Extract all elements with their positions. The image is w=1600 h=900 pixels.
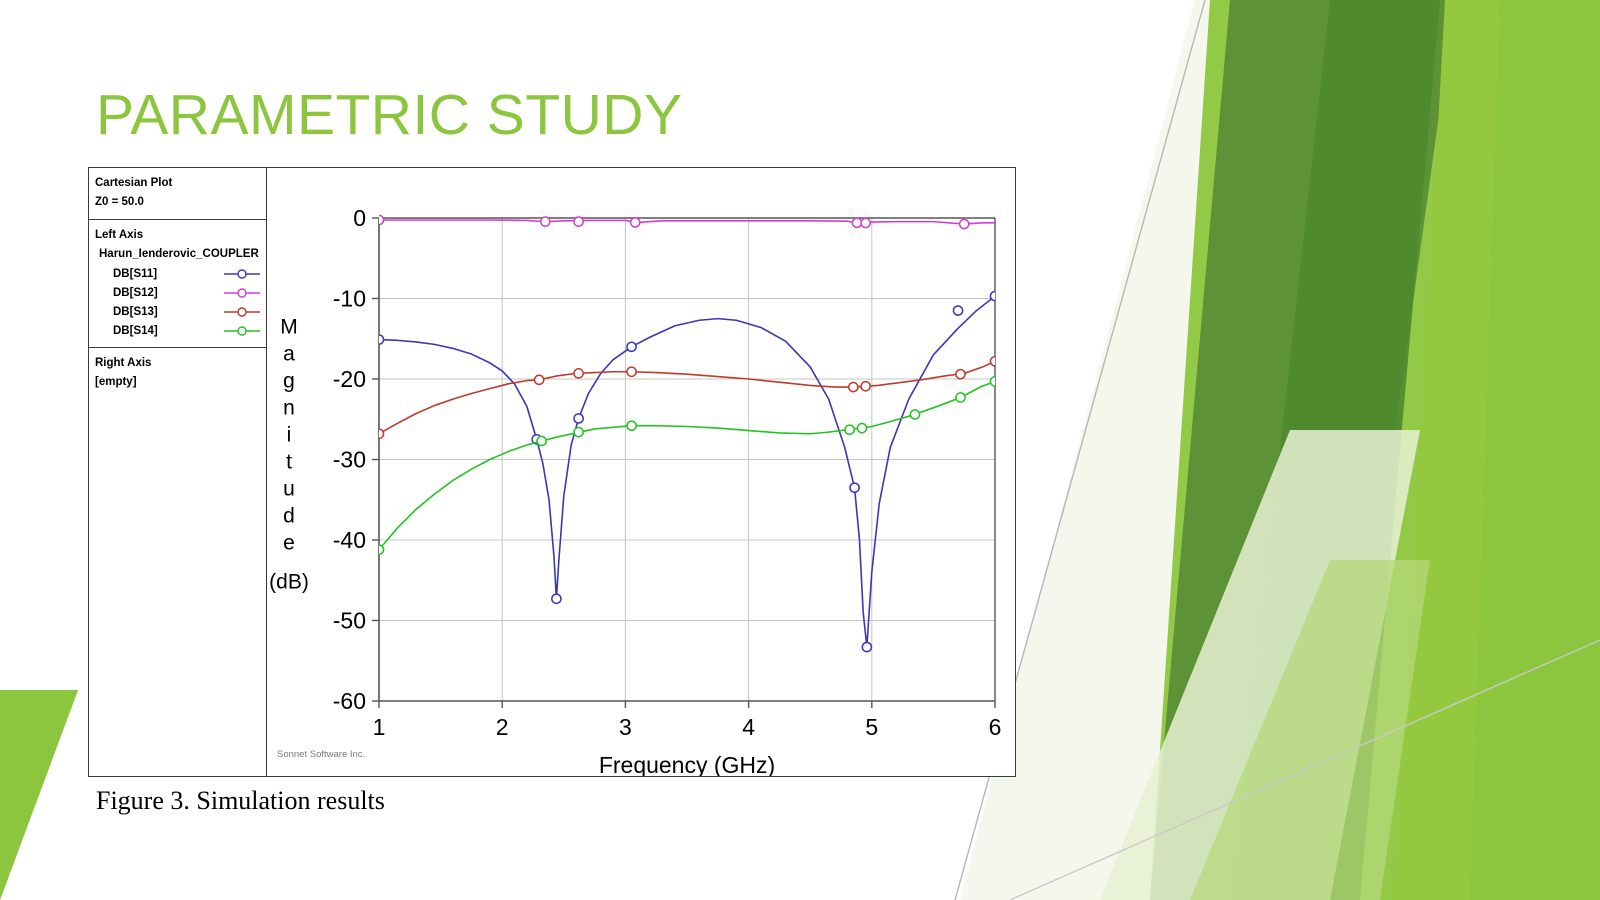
series-group [374,215,999,651]
plot-legend-panel: Cartesian Plot Z0 = 50.0 Left Axis Harun… [89,168,267,776]
series-marker [953,306,962,315]
legend-trace-s12-label: DB[S12] [113,287,158,299]
legend-trace-s14[interactable]: DB[S14] [89,321,266,340]
legend-trace-s11-label: DB[S11] [113,268,157,280]
x-tick-label: 4 [742,714,755,740]
series-marker [990,377,999,386]
y-axis-title-letter: u [283,478,295,501]
legend-trace-s11-key-icon [224,268,260,280]
y-tick-label: -10 [333,286,366,312]
series-line-dbs13 [379,361,995,433]
y-axis-unit-label: (dB) [269,571,309,594]
y-axis-title-letter: t [286,451,292,474]
legend-section-left-axis: Left Axis Harun_Ienderovic_COUPLER DB[S1… [89,220,266,348]
page-title: PARAMETRIC STUDY [96,82,683,148]
series-marker [374,545,383,554]
series-marker [849,382,858,391]
y-axis-title-letter: n [283,397,295,420]
series-marker [990,291,999,300]
y-axis-title-letter: a [283,343,295,366]
legend-left-axis-label: Left Axis [89,226,266,245]
series-marker [627,421,636,430]
legend-trace-s11[interactable]: DB[S11] [89,264,266,283]
series-marker [845,425,854,434]
legend-trace-s14-key-icon [224,325,260,337]
series-marker [574,369,583,378]
y-tick-label: -40 [333,527,366,553]
y-tick-label: 0 [353,205,366,231]
y-tick-label: -60 [333,688,366,714]
chart-plot: 0-10-20-30-40-50-60123456Frequency (GHz)… [267,168,1015,776]
series-marker [535,375,544,384]
series-marker [861,382,870,391]
series-marker [852,218,861,227]
series-marker [374,215,383,224]
slide-content: PARAMETRIC STUDY Cartesian Plot Z0 = 50.… [0,0,1600,900]
series-marker [857,424,866,433]
series-marker [627,342,636,351]
series-marker [374,335,383,344]
legend-trace-s13-key-icon [224,306,260,318]
legend-trace-s12[interactable]: DB[S12] [89,283,266,302]
series-line-dbs14 [379,381,995,549]
y-tick-label: -20 [333,366,366,392]
cartesian-plot-window: Cartesian Plot Z0 = 50.0 Left Axis Harun… [88,167,1016,777]
x-tick-label: 6 [989,714,1002,740]
series-marker [627,367,636,376]
x-tick-label: 1 [373,714,386,740]
legend-right-axis-value: [empty] [89,373,266,392]
series-marker [850,483,859,492]
sonnet-watermark: Sonnet Software Inc. [277,749,365,760]
legend-right-axis-label: Right Axis [89,354,266,373]
y-axis-title-letter: e [283,532,295,555]
series-marker [374,429,383,438]
series-marker [574,414,583,423]
series-marker [541,217,550,226]
x-axis-title: Frequency (GHz) [599,752,775,776]
series-marker [956,370,965,379]
y-tick-label: -30 [333,447,366,473]
legend-section-header: Cartesian Plot Z0 = 50.0 [89,168,266,220]
series-marker [956,393,965,402]
legend-trace-s13[interactable]: DB[S13] [89,302,266,321]
y-tick-label: -50 [333,608,366,634]
y-axis-title-letter: d [283,505,295,528]
figure-caption: Figure 3. Simulation results [96,786,385,816]
legend-plot-type: Cartesian Plot [89,174,266,193]
x-tick-label: 5 [865,714,878,740]
series-line-dbs11 [379,296,995,647]
series-marker [574,217,583,226]
legend-trace-s13-label: DB[S13] [113,306,158,318]
legend-trace-s14-label: DB[S14] [113,325,158,337]
series-marker [631,218,640,227]
chart-area: 0-10-20-30-40-50-60123456Frequency (GHz)… [267,168,1015,776]
x-tick-label: 2 [496,714,509,740]
series-marker [861,218,870,227]
series-marker [990,357,999,366]
series-marker [552,594,561,603]
y-axis-title-letter: i [287,424,292,447]
legend-project-name: Harun_Ienderovic_COUPLER [89,245,266,264]
y-axis-title-letter: g [283,370,295,393]
series-marker [862,642,871,651]
legend-impedance: Z0 = 50.0 [89,193,266,212]
series-marker [537,436,546,445]
x-tick-label: 3 [619,714,632,740]
y-axis-title-letter: M [280,316,298,339]
series-marker [910,410,919,419]
legend-trace-s12-key-icon [224,287,260,299]
series-marker [960,219,969,228]
series-line-dbs12 [379,220,995,224]
legend-section-right-axis: Right Axis [empty] [89,348,266,399]
series-marker [574,428,583,437]
